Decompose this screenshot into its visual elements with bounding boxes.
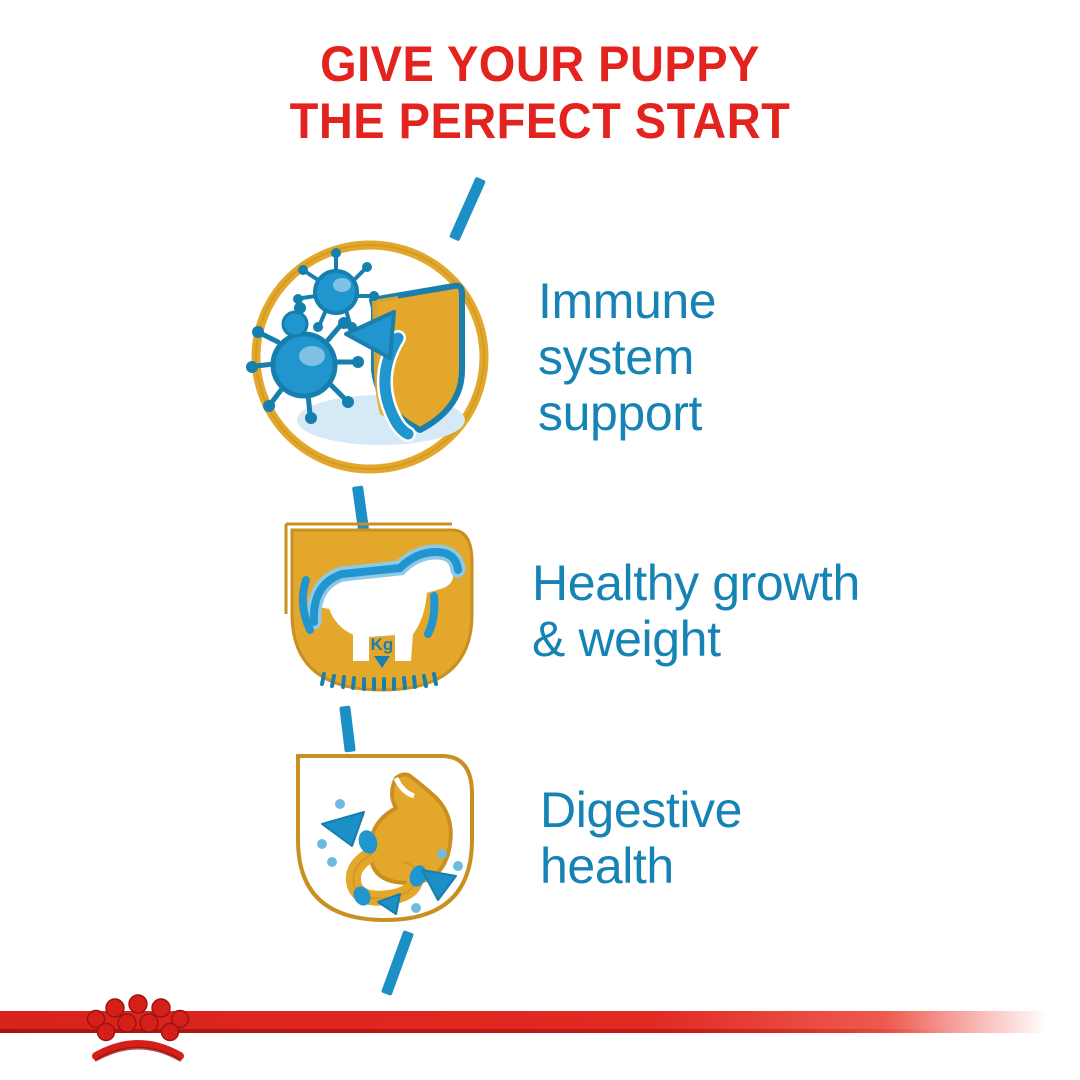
headline-line-1: GIVE YOUR PUPPY (32, 36, 1047, 93)
benefit-item-growth: Kg Hea (248, 518, 1038, 703)
shield-virus-icon (248, 238, 492, 476)
page-title: GIVE YOUR PUPPY THE PERFECT START (32, 36, 1047, 150)
benefit-label-digestion: Digestive health (540, 782, 742, 894)
connector-dash-bottom (381, 930, 414, 996)
benefit-item-immune: Immune system support (248, 238, 1038, 476)
stomach-intestine-icon (292, 750, 478, 926)
infographic-page: GIVE YOUR PUPPY THE PERFECT START (0, 0, 1080, 1080)
dog-weight-scale-icon: Kg (284, 522, 480, 700)
benefit-item-digestion: Digestive health (248, 748, 1038, 928)
connector-dash-top (449, 177, 486, 242)
headline-line-2: THE PERFECT START (32, 93, 1047, 150)
connector-dash-2 (339, 706, 356, 753)
svg-text:Kg: Kg (371, 635, 394, 654)
benefit-label-immune: Immune system support (538, 273, 716, 441)
benefit-label-growth: Healthy growth & weight (532, 555, 860, 667)
royal-canin-crown-logo (72, 988, 204, 1068)
